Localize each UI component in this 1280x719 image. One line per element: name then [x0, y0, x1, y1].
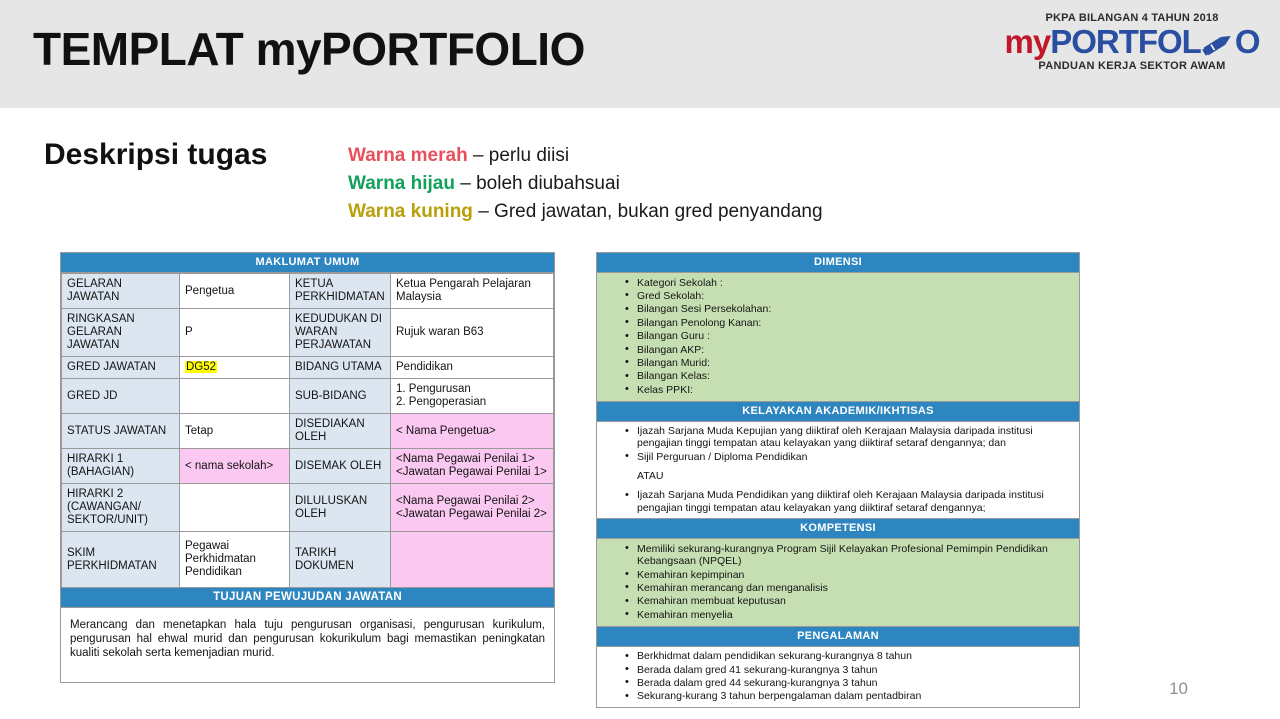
- section-body-kelayakan-akademik-ikhtisas: Ijazah Sarjana Muda Kepujian yang diikti…: [597, 422, 1079, 520]
- section-band-kompetensi: KOMPETENSI: [597, 519, 1079, 539]
- legend-red-desc: – perlu diisi: [468, 145, 569, 166]
- section-list: Ijazah Sarjana Muda Kepujian yang diikti…: [601, 425, 1075, 515]
- cell-skim-perkhidmatan-value2: [391, 532, 554, 588]
- cell-gred-jd-label2: SUB-BIDANG: [290, 379, 391, 414]
- list-item: Bilangan Murid:: [637, 356, 1075, 369]
- list-item: Bilangan AKP:: [637, 343, 1075, 356]
- section-band-dimensi: DIMENSI: [597, 253, 1079, 273]
- gred-jawatan-highlight: DG52: [185, 361, 217, 373]
- cell-status-jawatan-label: STATUS JAWATAN: [62, 414, 180, 449]
- cell-hirarki-1-bahagian-label: HIRARKI 1 (BAHAGIAN): [62, 449, 180, 484]
- cell-ringkasan-gelaran-jawatan-label: RINGKASAN GELARAN JAWATAN: [62, 309, 180, 357]
- table-row: GRED JAWATANDG52BIDANG UTAMAPendidikan: [62, 357, 554, 379]
- list-item: Ijazah Sarjana Muda Pendidikan yang diik…: [637, 489, 1075, 515]
- list-item: Bilangan Kelas:: [637, 370, 1075, 383]
- legend-item-green: Warna hijau – boleh diubahsuai: [348, 170, 823, 198]
- section-list: Memiliki sekurang-kurangnya Program Siji…: [601, 542, 1075, 621]
- table-row: HIRARKI 2 (CAWANGAN/ SEKTOR/UNIT)DILULUS…: [62, 484, 554, 532]
- list-item: Bilangan Penolong Kanan:: [637, 316, 1075, 329]
- cell-hirarki-1-bahagian-value: < nama sekolah>: [180, 449, 290, 484]
- cell-gred-jd-label: GRED JD: [62, 379, 180, 414]
- deskripsi-tugas-heading: Deskripsi tugas: [44, 132, 274, 177]
- cell-status-jawatan-value2: < Nama Pengetua>: [391, 414, 554, 449]
- section-body-pengalaman: Berkhidmat dalam pendidikan sekurang-kur…: [597, 647, 1079, 708]
- colour-legend: Warna merah – perlu diisi Warna hijau – …: [348, 142, 823, 226]
- cell-ringkasan-gelaran-jawatan-value2: Rujuk waran B63: [391, 309, 554, 357]
- list-item: Kemahiran membuat keputusan: [637, 595, 1075, 608]
- list-item: ATAU: [637, 470, 1075, 483]
- cell-status-jawatan-value: Tetap: [180, 414, 290, 449]
- logo-my-text: my: [1004, 25, 1050, 59]
- list-item: Berkhidmat dalam pendidikan sekurang-kur…: [637, 650, 1075, 663]
- section-list: Berkhidmat dalam pendidikan sekurang-kur…: [601, 650, 1075, 704]
- tujuan-pewujudan-band: TUJUAN PEWUJUDAN JAWATAN: [61, 588, 554, 608]
- legend-red-label: Warna merah: [348, 145, 468, 166]
- cell-gelaran-jawatan-label2: KETUA PERKHIDMATAN: [290, 274, 391, 309]
- list-item: Kategori Sekolah :: [637, 276, 1075, 289]
- cell-hirarki-1-bahagian-label2: DISEMAK OLEH: [290, 449, 391, 484]
- list-item: Ijazah Sarjana Muda Kepujian yang diikti…: [637, 425, 1075, 451]
- table-row: RINGKASAN GELARAN JAWATANPKEDUDUKAN DI W…: [62, 309, 554, 357]
- table-row: SKIM PERKHIDMATANPegawai Perkhidmatan Pe…: [62, 532, 554, 588]
- cell-gelaran-jawatan-value2: Ketua Pengarah Pelajaran Malaysia: [391, 274, 554, 309]
- list-item: Sijil Perguruan / Diploma Pendidikan: [637, 450, 1075, 463]
- cell-gred-jd-value: [180, 379, 290, 414]
- section-band-kelayakan-akademik-ikhtisas: KELAYAKAN AKADEMIK/IKHTISAS: [597, 402, 1079, 422]
- list-item: Kemahiran kepimpinan: [637, 568, 1075, 581]
- page-number: 10: [1169, 679, 1188, 699]
- legend-green-label: Warna hijau: [348, 173, 455, 194]
- list-item: Kemahiran merancang dan menganalisis: [637, 581, 1075, 594]
- table-row: STATUS JAWATANTetapDISEDIAKAN OLEH< Nama…: [62, 414, 554, 449]
- list-item: Kelas PPKI:: [637, 383, 1075, 396]
- section-body-kompetensi: Memiliki sekurang-kurangnya Program Siji…: [597, 539, 1079, 626]
- cell-skim-perkhidmatan-label: SKIM PERKHIDMATAN: [62, 532, 180, 588]
- cell-gred-jawatan-label: GRED JAWATAN: [62, 357, 180, 379]
- tujuan-pewujudan-text: Merancang dan menetapkan hala tuju pengu…: [61, 608, 554, 682]
- cell-gred-jawatan-value2: Pendidikan: [391, 357, 554, 379]
- page-title: TEMPLAT myPORTFOLIO: [33, 22, 585, 76]
- cell-gred-jawatan-label2: BIDANG UTAMA: [290, 357, 391, 379]
- list-item: Berada dalam gred 41 sekurang-kurangnya …: [637, 663, 1075, 676]
- maklumat-umum-grid: GELARAN JAWATANPengetuaKETUA PERKHIDMATA…: [61, 273, 554, 588]
- cell-gred-jawatan-value: DG52: [180, 357, 290, 379]
- cell-hirarki-2-cawangan-sektor-unit-value: [180, 484, 290, 532]
- cell-gelaran-jawatan-value: Pengetua: [180, 274, 290, 309]
- cell-hirarki-1-bahagian-value2: <Nama Pegawai Penilai 1><Jawatan Pegawai…: [391, 449, 554, 484]
- legend-item-red: Warna merah – perlu diisi: [348, 142, 823, 170]
- legend-green-desc: – boleh diubahsuai: [455, 173, 620, 194]
- cell-gred-jd-value2: 1. Pengurusan2. Pengoperasian: [391, 379, 554, 414]
- cell-status-jawatan-label2: DISEDIAKAN OLEH: [290, 414, 391, 449]
- maklumat-umum-band: MAKLUMAT UMUM: [61, 253, 554, 273]
- list-item: Berada dalam gred 44 sekurang-kurangnya …: [637, 676, 1075, 689]
- section-body-dimensi: Kategori Sekolah :Gred Sekolah:Bilangan …: [597, 273, 1079, 402]
- table-row: GELARAN JAWATANPengetuaKETUA PERKHIDMATA…: [62, 274, 554, 309]
- cell-gelaran-jawatan-label: GELARAN JAWATAN: [62, 274, 180, 309]
- maklumat-umum-table: MAKLUMAT UMUM GELARAN JAWATANPengetuaKET…: [60, 252, 555, 683]
- cell-skim-perkhidmatan-label2: TARIKH DOKUMEN: [290, 532, 391, 588]
- logo-portfol-text: PORTFOL: [1050, 25, 1201, 59]
- section-list: Kategori Sekolah :Gred Sekolah:Bilangan …: [601, 276, 1075, 397]
- list-item: Sekurang-kurang 3 tahun berpengalaman da…: [637, 690, 1075, 703]
- cell-hirarki-2-cawangan-sektor-unit-label: HIRARKI 2 (CAWANGAN/ SEKTOR/UNIT): [62, 484, 180, 532]
- logo-tagline-bottom: PANDUAN KERJA SEKTOR AWAM: [1002, 59, 1262, 73]
- pen-icon: [1201, 31, 1235, 57]
- list-item: Memiliki sekurang-kurangnya Program Siji…: [637, 542, 1075, 568]
- cell-skim-perkhidmatan-value: Pegawai Perkhidmatan Pendidikan: [180, 532, 290, 588]
- cell-hirarki-2-cawangan-sektor-unit-value2: <Nama Pegawai Penilai 2><Jawatan Pegawai…: [391, 484, 554, 532]
- cell-hirarki-2-cawangan-sektor-unit-label2: DILULUSKAN OLEH: [290, 484, 391, 532]
- cell-ringkasan-gelaran-jawatan-label2: KEDUDUKAN DI WARAN PERJAWATAN: [290, 309, 391, 357]
- legend-yellow-label: Warna kuning: [348, 201, 473, 222]
- legend-yellow-desc: – Gred jawatan, bukan gred penyandang: [473, 201, 823, 222]
- logo-wordmark: myPORTFOL O: [1002, 25, 1262, 59]
- section-band-pengalaman: PENGALAMAN: [597, 627, 1079, 647]
- list-item: Gred Sekolah:: [637, 289, 1075, 302]
- logo-o-text: O: [1235, 25, 1260, 59]
- list-item: Bilangan Guru :: [637, 330, 1075, 343]
- table-row: HIRARKI 1 (BAHAGIAN)< nama sekolah>DISEM…: [62, 449, 554, 484]
- list-item: Bilangan Sesi Persekolahan:: [637, 303, 1075, 316]
- table-row: GRED JDSUB-BIDANG1. Pengurusan2. Pengope…: [62, 379, 554, 414]
- kriteria-jawatan-table: DIMENSIKategori Sekolah :Gred Sekolah:Bi…: [596, 252, 1080, 708]
- legend-item-yellow: Warna kuning – Gred jawatan, bukan gred …: [348, 198, 823, 226]
- myportfolio-logo: PKPA BILANGAN 4 TAHUN 2018 myPORTFOL O P…: [1002, 12, 1262, 73]
- cell-ringkasan-gelaran-jawatan-value: P: [180, 309, 290, 357]
- list-item: Kemahiran menyelia: [637, 608, 1075, 621]
